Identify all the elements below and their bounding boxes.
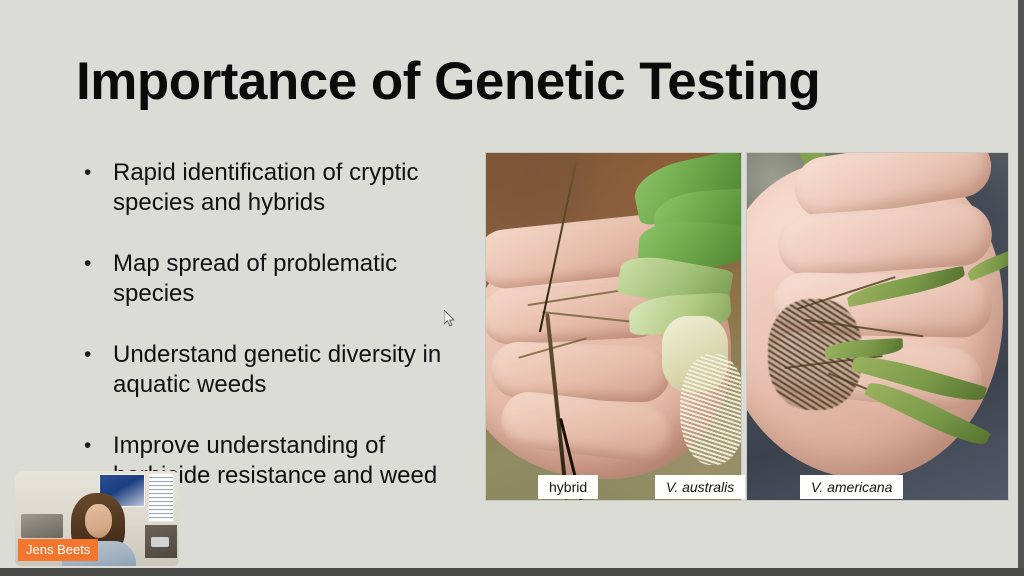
screen-bottom-border (0, 568, 1024, 576)
slide-canvas: Importance of Genetic Testing • Rapid id… (0, 0, 1018, 568)
photo-label-hybrid: hybrid (538, 475, 598, 499)
photo-left-canvas (486, 153, 741, 500)
screen-right-border (1018, 0, 1024, 576)
wall-fish-chart (148, 473, 174, 522)
photo-right-canvas (747, 153, 1008, 500)
photo-group: hybrid V. australis V. americana (485, 152, 1009, 501)
photo-americana (746, 152, 1009, 501)
bullet-marker-icon: • (78, 249, 113, 279)
photo-label-australis: V. australis (655, 475, 745, 499)
webcam-video-tile[interactable]: Jens Beets (15, 471, 179, 566)
person-face (85, 504, 112, 538)
bullet-marker-icon: • (78, 340, 113, 370)
shelf-item (151, 537, 169, 547)
page-title: Importance of Genetic Testing (76, 52, 820, 112)
storage-box (21, 514, 63, 538)
bullet-text: Rapid identification of cryptic species … (113, 158, 453, 218)
list-item: • Rapid identification of cryptic specie… (78, 158, 468, 218)
participant-name-badge: Jens Beets (18, 539, 98, 561)
list-item: • Map spread of problematic species (78, 249, 468, 309)
list-item: • Understand genetic diversity in aquati… (78, 340, 468, 400)
bullet-list: • Rapid identification of cryptic specie… (78, 158, 468, 522)
photo-label-americana: V. americana (800, 475, 903, 499)
bullet-text: Map spread of problematic species (113, 249, 453, 309)
photo-hybrid-australis (485, 152, 742, 501)
plant-roots (680, 354, 742, 465)
bullet-marker-icon: • (78, 431, 113, 461)
shelf-unit (145, 525, 177, 558)
bullet-marker-icon: • (78, 158, 113, 188)
arrow-pointer-icon (444, 310, 456, 328)
presentation-screen: Importance of Genetic Testing • Rapid id… (0, 0, 1024, 576)
bullet-text: Understand genetic diversity in aquatic … (113, 340, 453, 400)
